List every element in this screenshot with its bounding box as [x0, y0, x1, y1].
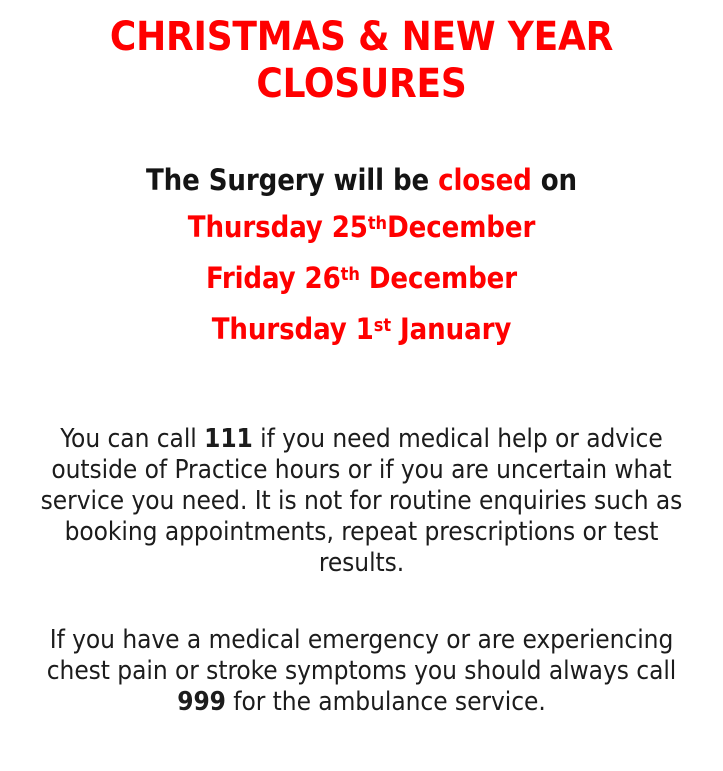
closure-date-day: Friday [206, 261, 296, 295]
phone-number-111: 111 [204, 424, 253, 454]
closure-notice: CHRISTMAS & NEW YEAR CLOSURES The Surger… [0, 0, 723, 771]
phone-number-999: 999 [177, 687, 226, 717]
page-title: CHRISTMAS & NEW YEAR CLOSURES [0, 0, 723, 108]
advice-text-before: You can call [60, 424, 204, 454]
closure-date-number: 25 [332, 210, 368, 244]
closure-date-number: 26 [305, 261, 341, 295]
closure-date-month: January [400, 312, 511, 346]
closure-date-ordinal: st [374, 315, 391, 336]
closure-date-month: December [369, 261, 517, 295]
closure-date-number: 1 [356, 312, 374, 346]
closure-date-day: Thursday [212, 312, 347, 346]
closure-dates-block: The Surgery will be closed on Thursday 2… [0, 108, 723, 357]
page-title-line-2: CLOSURES [256, 61, 466, 107]
closure-date-ordinal: th [368, 213, 387, 234]
closure-intro-line: The Surgery will be closed on [30, 157, 693, 204]
closure-date-day: Thursday [188, 210, 323, 244]
closure-date-line: Thursday 25thDecember [30, 204, 693, 255]
closure-intro-trail: on [532, 163, 577, 197]
closure-intro-emphasis: closed [438, 163, 532, 197]
advice-paragraph: You can call 111 if you need medical hel… [22, 357, 701, 579]
page-title-line-1: CHRISTMAS & NEW YEAR [110, 14, 613, 60]
closure-date-month: December [387, 210, 535, 244]
closure-intro-lead: The Surgery will be [146, 163, 438, 197]
body-block: You can call 111 if you need medical hel… [0, 357, 723, 718]
closure-date-line: Friday 26th December [30, 255, 693, 306]
emergency-paragraph: If you have a medical emergency or are e… [22, 579, 701, 718]
emergency-text-before: If you have a medical emergency or are e… [47, 625, 677, 686]
emergency-text-after: for the ambulance service. [226, 687, 546, 717]
closure-date-line: Thursday 1st January [30, 306, 693, 357]
closure-date-ordinal: th [341, 264, 360, 285]
